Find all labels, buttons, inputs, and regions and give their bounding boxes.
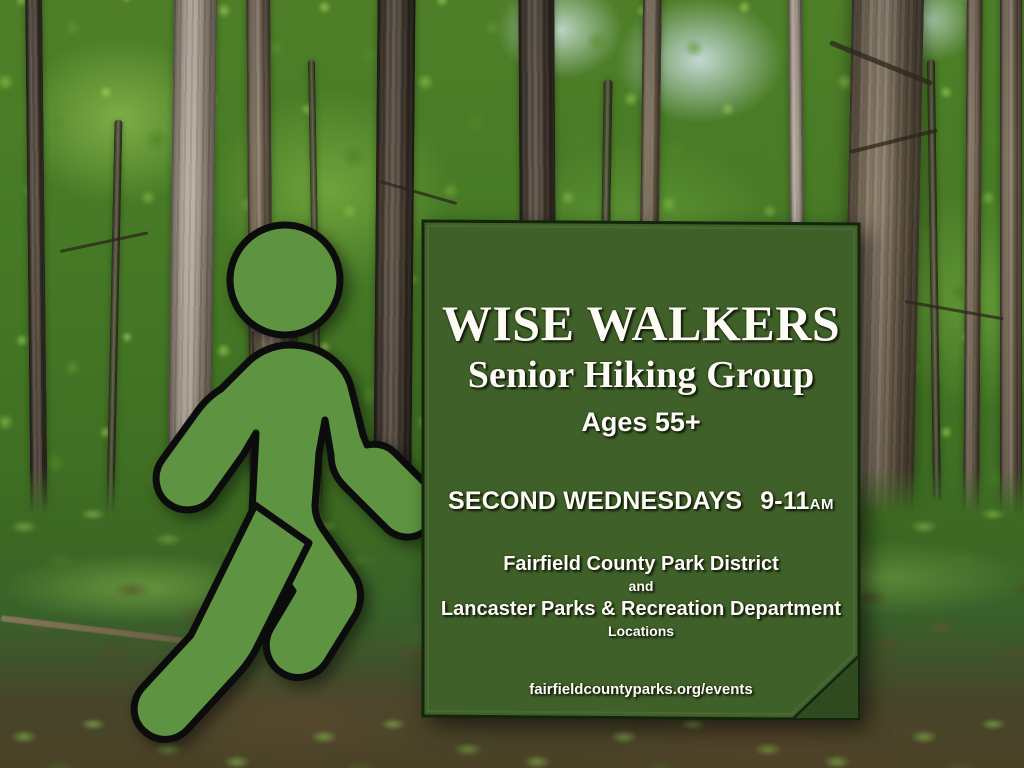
age-requirement: Ages 55+: [423, 408, 859, 436]
info-panel: WISE WALKERS Senior Hiking Group Ages 55…: [418, 216, 866, 724]
schedule-time: 9-11: [760, 487, 809, 515]
schedule-ampm: AM: [810, 496, 834, 513]
organizer-primary: Fairfield County Park District: [423, 554, 859, 575]
schedule-line: SECOND WEDNESDAYS9-11AM: [423, 488, 859, 514]
website-url[interactable]: fairfieldcountyparks.org/events: [423, 682, 859, 698]
panel-text-block: WISE WALKERS Senior Hiking Group Ages 55…: [423, 221, 859, 719]
poster-title: WISE WALKERS: [423, 297, 859, 349]
poster-subtitle: Senior Hiking Group: [423, 356, 859, 396]
schedule-days: SECOND WEDNESDAYS: [448, 487, 742, 515]
organizer-secondary: Lancaster Parks & Recreation Department: [423, 599, 859, 620]
walking-person-icon: [95, 205, 455, 750]
poster-canvas: WISE WALKERS Senior Hiking Group Ages 55…: [0, 0, 1024, 768]
locations-label: Locations: [423, 624, 859, 639]
organizer-conjunction: and: [423, 579, 859, 594]
